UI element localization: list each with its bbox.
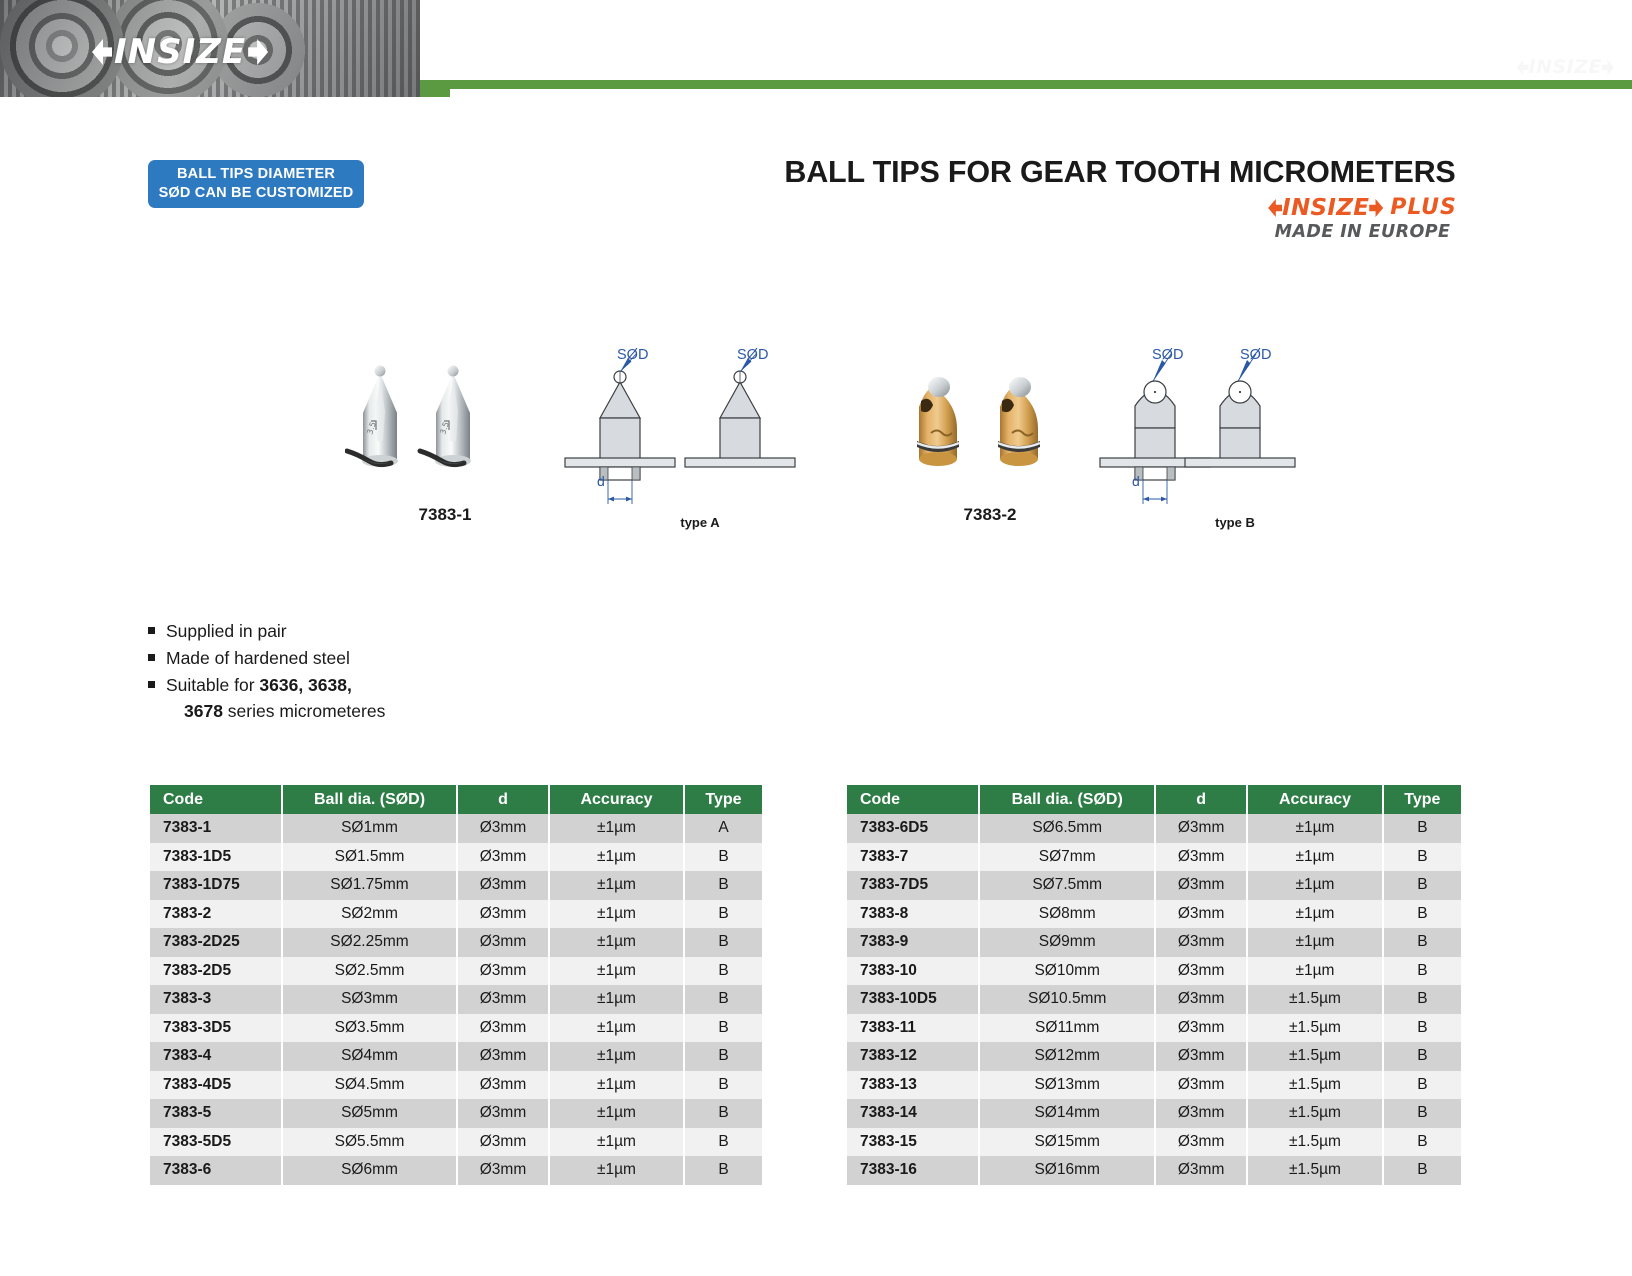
cell-type: B [684,957,762,986]
cell-ball-dia: SØ14mm [979,1099,1155,1128]
table-row: 7383-5SØ5mmØ3mm±1µmB [150,1099,762,1128]
cell-d: Ø3mm [1155,900,1247,929]
insize-plus-logo: INSIZE PLUS MADE IN EUROPE [1255,196,1470,242]
cell-d: Ø3mm [1155,871,1247,900]
cell-code: 7383-3D5 [150,1014,282,1043]
product-photo-7383-1: 3.5 3.5 [345,355,595,515]
cell-ball-dia: SØ8mm [979,900,1155,929]
cell-accuracy: ±1µm [1247,900,1382,929]
cell-accuracy: ±1µm [549,900,684,929]
bullet-text-2: Made of hardened steel [166,645,668,672]
cell-d: Ø3mm [457,985,549,1014]
table-row: 7383-3D5SØ3.5mmØ3mm±1µmB [150,1014,762,1043]
cell-accuracy: ±1µm [1247,843,1382,872]
cell-code: 7383-7 [847,843,979,872]
cell-code: 7383-4D5 [150,1071,282,1100]
cell-d: Ø3mm [457,900,549,929]
cell-code: 7383-13 [847,1071,979,1100]
cell-d: Ø3mm [457,1156,549,1185]
arrow-right-icon [248,39,268,65]
cell-accuracy: ±1µm [549,928,684,957]
cell-d: Ø3mm [1155,1071,1247,1100]
cell-code: 7383-12 [847,1042,979,1071]
table-row: 7383-1D75SØ1.75mmØ3mm±1µmB [150,871,762,900]
cell-ball-dia: SØ1mm [282,814,457,843]
cell-code: 7383-2D25 [150,928,282,957]
cell-d: Ø3mm [1155,1099,1247,1128]
table-row: 7383-11SØ11mmØ3mm±1.5µmB [847,1014,1461,1043]
th-accuracy: Accuracy [1247,785,1382,814]
cell-code: 7383-5D5 [150,1128,282,1157]
cell-code: 7383-10D5 [847,985,979,1014]
cell-code: 7383-9 [847,928,979,957]
cell-type: B [684,1014,762,1043]
cell-ball-dia: SØ15mm [979,1128,1155,1157]
cell-type: B [684,843,762,872]
cell-type: B [684,1042,762,1071]
cell-d: Ø3mm [1155,957,1247,986]
insize-logo-text: INSIZE [114,35,246,69]
badge-line-1: BALL TIPS DIAMETER [177,165,335,184]
table-row: 7383-12SØ12mmØ3mm±1.5µmB [847,1042,1461,1071]
table-row: 7383-6D5SØ6.5mmØ3mm±1µmB [847,814,1461,843]
cell-type: B [1383,1128,1461,1157]
cell-ball-dia: SØ7mm [979,843,1155,872]
cell-accuracy: ±1µm [549,985,684,1014]
page-header: INSIZE INSIZE [0,0,1632,100]
cell-ball-dia: SØ16mm [979,1156,1155,1185]
figure-type-caption-b: type B [1145,515,1325,530]
cell-d: Ø3mm [457,957,549,986]
cell-type: B [1383,1071,1461,1100]
table-row: 7383-6SØ6mmØ3mm±1µmB [150,1156,762,1185]
watermark-text: INSIZE [1529,58,1602,77]
th-accuracy: Accuracy [549,785,684,814]
cell-accuracy: ±1µm [549,871,684,900]
cell-d: Ø3mm [457,928,549,957]
watermark-arrow-right-icon [1602,60,1614,75]
cell-type: B [684,1128,762,1157]
table-header-row: Code Ball dia. (SØD) d Accuracy Type [847,785,1461,814]
cell-ball-dia: SØ4.5mm [282,1071,457,1100]
cell-accuracy: ±1µm [549,957,684,986]
cell-accuracy: ±1.5µm [1247,1014,1382,1043]
cell-accuracy: ±1.5µm [1247,1071,1382,1100]
cell-d: Ø3mm [1155,843,1247,872]
th-type: Type [1383,785,1461,814]
cell-accuracy: ±1.5µm [1247,1099,1382,1128]
cell-d: Ø3mm [457,814,549,843]
cell-ball-dia: SØ3.5mm [282,1014,457,1043]
cell-ball-dia: SØ3mm [282,985,457,1014]
table-row: 7383-9SØ9mmØ3mm±1µmB [847,928,1461,957]
table-row: 7383-4SØ4mmØ3mm±1µmB [150,1042,762,1071]
cell-code: 7383-15 [847,1128,979,1157]
cell-accuracy: ±1µm [549,1099,684,1128]
cell-d: Ø3mm [457,1042,549,1071]
cell-code: 7383-16 [847,1156,979,1185]
cell-d: Ø3mm [1155,1156,1247,1185]
cell-ball-dia: SØ2mm [282,900,457,929]
bullet-text-1: Supplied in pair [166,618,668,645]
table-row: 7383-15SØ15mmØ3mm±1.5µmB [847,1128,1461,1157]
table-row: 7383-5D5SØ5.5mmØ3mm±1µmB [150,1128,762,1157]
technical-drawing-type-b-right [1180,348,1300,508]
cell-ball-dia: SØ11mm [979,1014,1155,1043]
header-white-fill [408,0,1632,80]
sod-label-left-a: SØD [617,347,648,363]
cell-type: B [684,928,762,957]
table-right-body: 7383-6D5SØ6.5mmØ3mm±1µmB7383-7SØ7mmØ3mm±… [847,814,1461,1185]
bullet-3-bold-1: 3636, 3638, [259,675,351,695]
cell-d: Ø3mm [457,1099,549,1128]
plus-insize-text: INSIZE [1282,197,1369,220]
table-left-body: 7383-1SØ1mmØ3mm±1µmA7383-1D5SØ1.5mmØ3mm±… [150,814,762,1185]
th-ball-dia: Ball dia. (SØD) [282,785,457,814]
table-row: 7383-8SØ8mmØ3mm±1µmB [847,900,1461,929]
cell-type: B [1383,900,1461,929]
badge-line-2: SØD CAN BE CUSTOMIZED [159,184,354,203]
cell-code: 7383-3 [150,985,282,1014]
cell-d: Ø3mm [1155,814,1247,843]
th-d: d [457,785,549,814]
cell-ball-dia: SØ2.25mm [282,928,457,957]
cell-ball-dia: SØ5.5mm [282,1128,457,1157]
technical-drawing-type-a-left [560,348,680,508]
cell-type: B [1383,985,1461,1014]
cell-ball-dia: SØ13mm [979,1071,1155,1100]
cell-accuracy: ±1.5µm [1247,985,1382,1014]
cell-d: Ø3mm [457,1014,549,1043]
table-row: 7383-10SØ10mmØ3mm±1µmB [847,957,1461,986]
cell-d: Ø3mm [1155,1128,1247,1157]
cell-d: Ø3mm [1155,985,1247,1014]
cell-accuracy: ±1µm [549,1128,684,1157]
table-row: 7383-10D5SØ10.5mmØ3mm±1.5µmB [847,985,1461,1014]
cell-code: 7383-8 [847,900,979,929]
cell-code: 7383-11 [847,1014,979,1043]
bullet-item-2: Made of hardened steel [148,645,668,672]
cell-accuracy: ±1µm [1247,957,1382,986]
cell-type: B [684,1071,762,1100]
cell-type: B [1383,814,1461,843]
insize-watermark: INSIZE [1517,58,1614,77]
cell-ball-dia: SØ12mm [979,1042,1155,1071]
cell-ball-dia: SØ1.75mm [282,871,457,900]
table-row: 7383-7D5SØ7.5mmØ3mm±1µmB [847,871,1461,900]
cell-d: Ø3mm [457,1071,549,1100]
cell-ball-dia: SØ2.5mm [282,957,457,986]
page-title: BALL TIPS FOR GEAR TOOTH MICROMETERS [770,155,1470,190]
arrow-left-icon [92,39,112,65]
cell-type: B [1383,843,1461,872]
cell-accuracy: ±1µm [549,843,684,872]
spec-table-right: Code Ball dia. (SØD) d Accuracy Type 738… [847,785,1461,1185]
figure-caption-7383-2: 7383-2 [905,505,1075,525]
cell-accuracy: ±1µm [549,1071,684,1100]
table-row: 7383-16SØ16mmØ3mm±1.5µmB [847,1156,1461,1185]
header-green-bar [385,80,1632,89]
th-type: Type [684,785,762,814]
made-in-europe-text: MADE IN EUROPE [1255,222,1470,242]
cell-ball-dia: SØ1.5mm [282,843,457,872]
th-d: d [1155,785,1247,814]
cell-code: 7383-6D5 [847,814,979,843]
table-row: 7383-13SØ13mmØ3mm±1.5µmB [847,1071,1461,1100]
cell-code: 7383-4 [150,1042,282,1071]
cell-d: Ø3mm [457,871,549,900]
plus-word-text: PLUS [1390,197,1457,219]
sod-label-right-b2: SØD [1240,347,1271,363]
bullet-3-bold-2: 3678 [184,701,223,721]
cell-accuracy: ±1µm [1247,871,1382,900]
cell-code: 7383-6 [150,1156,282,1185]
figure-type-caption-a: type A [610,515,790,530]
cell-type: B [1383,1042,1461,1071]
cell-ball-dia: SØ6mm [282,1156,457,1185]
table-row: 7383-2SØ2mmØ3mm±1µmB [150,900,762,929]
table-row: 7383-7SØ7mmØ3mm±1µmB [847,843,1461,872]
product-photo-7383-2 [895,355,1115,515]
cell-code: 7383-7D5 [847,871,979,900]
cell-accuracy: ±1µm [1247,928,1382,957]
cell-code: 7383-5 [150,1099,282,1128]
table-header-row: Code Ball dia. (SØD) d Accuracy Type [150,785,762,814]
bullet-item-3: Suitable for 3636, 3638, 3678 series mic… [148,672,668,726]
bullet-3-pre: Suitable for [166,675,259,695]
bullet-text-3: Suitable for 3636, 3638, 3678 series mic… [166,672,668,726]
cell-accuracy: ±1µm [1247,814,1382,843]
cell-accuracy: ±1µm [549,1042,684,1071]
sod-label-right-b: SØD [1152,347,1183,363]
cell-type: B [684,871,762,900]
d-label-left-a: d [597,473,605,489]
cell-accuracy: ±1µm [549,1014,684,1043]
plus-arrow-left-icon [1268,199,1282,217]
feature-bullet-list: Supplied in pair Made of hardened steel … [148,618,668,725]
insize-logo: INSIZE [92,33,268,71]
cell-accuracy: ±1µm [549,1156,684,1185]
cell-ball-dia: SØ10.5mm [979,985,1155,1014]
cell-type: A [684,814,762,843]
cell-d: Ø3mm [1155,928,1247,957]
cell-code: 7383-1D5 [150,843,282,872]
figure-caption-7383-1: 7383-1 [360,505,530,525]
cell-type: B [1383,1156,1461,1185]
bullet-3-post: series micrometeres [223,701,385,721]
cell-ball-dia: SØ5mm [282,1099,457,1128]
cell-d: Ø3mm [457,843,549,872]
cell-code: 7383-1D75 [150,871,282,900]
table-row: 7383-4D5SØ4.5mmØ3mm±1µmB [150,1071,762,1100]
table-row: 7383-2D25SØ2.25mmØ3mm±1µmB [150,928,762,957]
sod-label-left-a2: SØD [737,347,768,363]
table-row: 7383-1D5SØ1.5mmØ3mm±1µmB [150,843,762,872]
cell-type: B [1383,928,1461,957]
cell-code: 7383-14 [847,1099,979,1128]
th-ball-dia: Ball dia. (SØD) [979,785,1155,814]
cell-d: Ø3mm [1155,1014,1247,1043]
cell-type: B [684,1099,762,1128]
table-row: 7383-3SØ3mmØ3mm±1µmB [150,985,762,1014]
table-row: 7383-14SØ14mmØ3mm±1.5µmB [847,1099,1461,1128]
cell-accuracy: ±1µm [549,814,684,843]
cell-accuracy: ±1.5µm [1247,1128,1382,1157]
cell-code: 7383-10 [847,957,979,986]
technical-drawing-type-a-right [680,348,800,508]
product-figures: 3.5 3.5 7383-1 [0,330,1632,560]
cell-ball-dia: SØ10mm [979,957,1155,986]
watermark-arrow-left-icon [1517,60,1529,75]
cell-d: Ø3mm [1155,1042,1247,1071]
d-label-right-b: d [1132,473,1140,489]
cell-accuracy: ±1.5µm [1247,1042,1382,1071]
table-row: 7383-1SØ1mmØ3mm±1µmA [150,814,762,843]
cell-type: B [1383,1014,1461,1043]
bullet-square-icon [148,627,155,634]
cell-type: B [684,985,762,1014]
cell-type: B [684,900,762,929]
bullet-square-icon [148,654,155,661]
cell-type: B [1383,871,1461,900]
th-code: Code [150,785,282,814]
cell-code: 7383-1 [150,814,282,843]
cell-ball-dia: SØ9mm [979,928,1155,957]
cell-ball-dia: SØ4mm [282,1042,457,1071]
cell-code: 7383-2D5 [150,957,282,986]
cell-accuracy: ±1.5µm [1247,1156,1382,1185]
plus-arrow-right-icon [1369,199,1383,217]
cell-ball-dia: SØ7.5mm [979,871,1155,900]
table-row: 7383-2D5SØ2.5mmØ3mm±1µmB [150,957,762,986]
cell-code: 7383-2 [150,900,282,929]
bullet-square-icon [148,681,155,688]
cell-d: Ø3mm [457,1128,549,1157]
customization-badge: BALL TIPS DIAMETER SØD CAN BE CUSTOMIZED [148,160,364,208]
spec-table-left: Code Ball dia. (SØD) d Accuracy Type 738… [150,785,762,1185]
bullet-item-1: Supplied in pair [148,618,668,645]
cell-type: B [684,1156,762,1185]
cell-type: B [1383,957,1461,986]
cell-ball-dia: SØ6.5mm [979,814,1155,843]
th-code: Code [847,785,979,814]
cell-type: B [1383,1099,1461,1128]
